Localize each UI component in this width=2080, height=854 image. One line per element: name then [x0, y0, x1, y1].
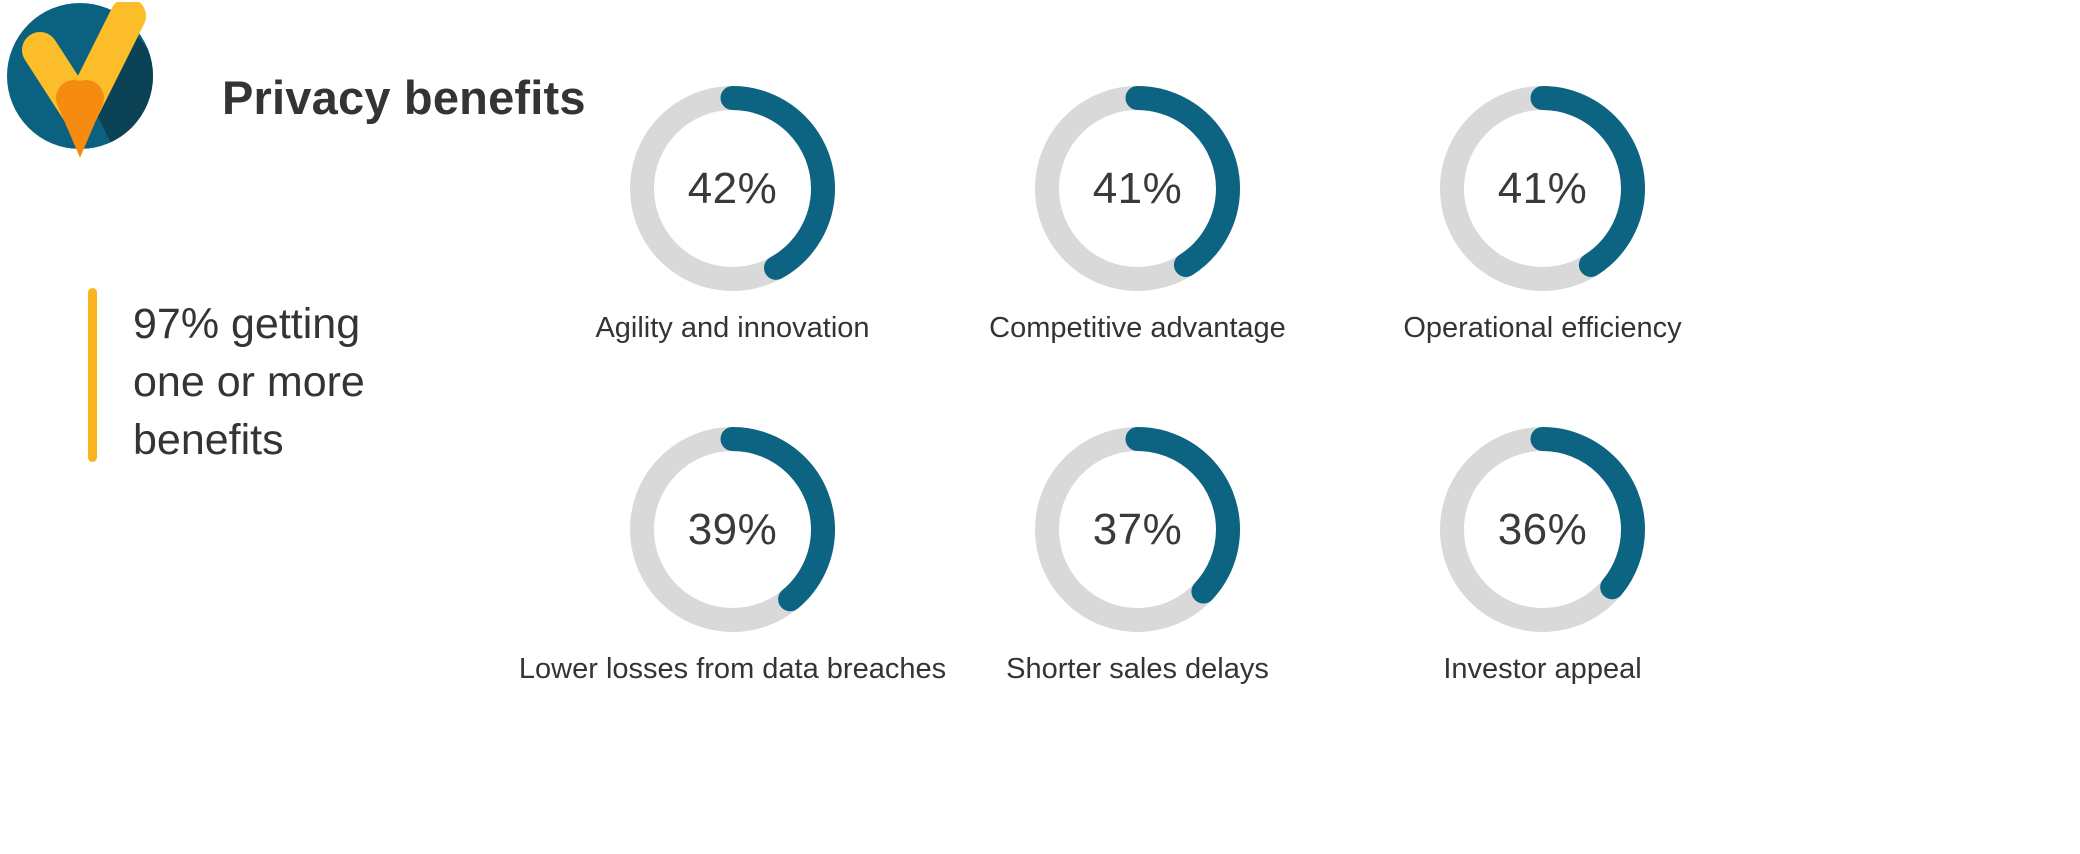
callout-accent-bar [88, 288, 97, 462]
donut-chart-shorter-sales-delays: 37%Shorter sales delays [935, 427, 1340, 686]
donut-row: 42%Agility and innovation41%Competitive … [530, 86, 2080, 345]
donut-ring: 36% [1440, 427, 1645, 632]
donut-value-text: 37% [1035, 427, 1240, 632]
donut-chart-lower-losses-from-data-breaches: 39%Lower losses from data breaches [530, 427, 935, 686]
donut-chart-investor-appeal: 36%Investor appeal [1340, 427, 1745, 686]
donut-row: 39%Lower losses from data breaches37%Sho… [530, 427, 2080, 686]
donut-value-text: 36% [1440, 427, 1645, 632]
donut-ring: 41% [1035, 86, 1240, 291]
callout-block: 97% getting one or more benefits [88, 288, 365, 469]
donut-chart-operational-efficiency: 41%Operational efficiency [1340, 86, 1745, 345]
donut-label: Investor appeal [1443, 653, 1641, 686]
donut-value-text: 41% [1440, 86, 1645, 291]
donut-label: Operational efficiency [1403, 312, 1681, 345]
donut-label: Lower losses from data breaches [519, 653, 946, 686]
donut-value-text: 39% [630, 427, 835, 632]
donut-label: Competitive advantage [989, 312, 1286, 345]
donut-chart-grid: 42%Agility and innovation41%Competitive … [530, 86, 2080, 686]
donut-chart-agility-and-innovation: 42%Agility and innovation [530, 86, 935, 345]
donut-label: Agility and innovation [595, 312, 869, 345]
slide-canvas: Privacy benefits 97% getting one or more… [0, 0, 2080, 854]
donut-ring: 39% [630, 427, 835, 632]
callout-text: 97% getting one or more benefits [133, 295, 365, 469]
donut-label: Shorter sales delays [1006, 653, 1269, 686]
checkmark-circle-logo-icon [4, 2, 160, 158]
donut-ring: 37% [1035, 427, 1240, 632]
donut-ring: 41% [1440, 86, 1645, 291]
donut-value-text: 42% [630, 86, 835, 291]
donut-ring: 42% [630, 86, 835, 291]
donut-value-text: 41% [1035, 86, 1240, 291]
donut-chart-competitive-advantage: 41%Competitive advantage [935, 86, 1340, 345]
